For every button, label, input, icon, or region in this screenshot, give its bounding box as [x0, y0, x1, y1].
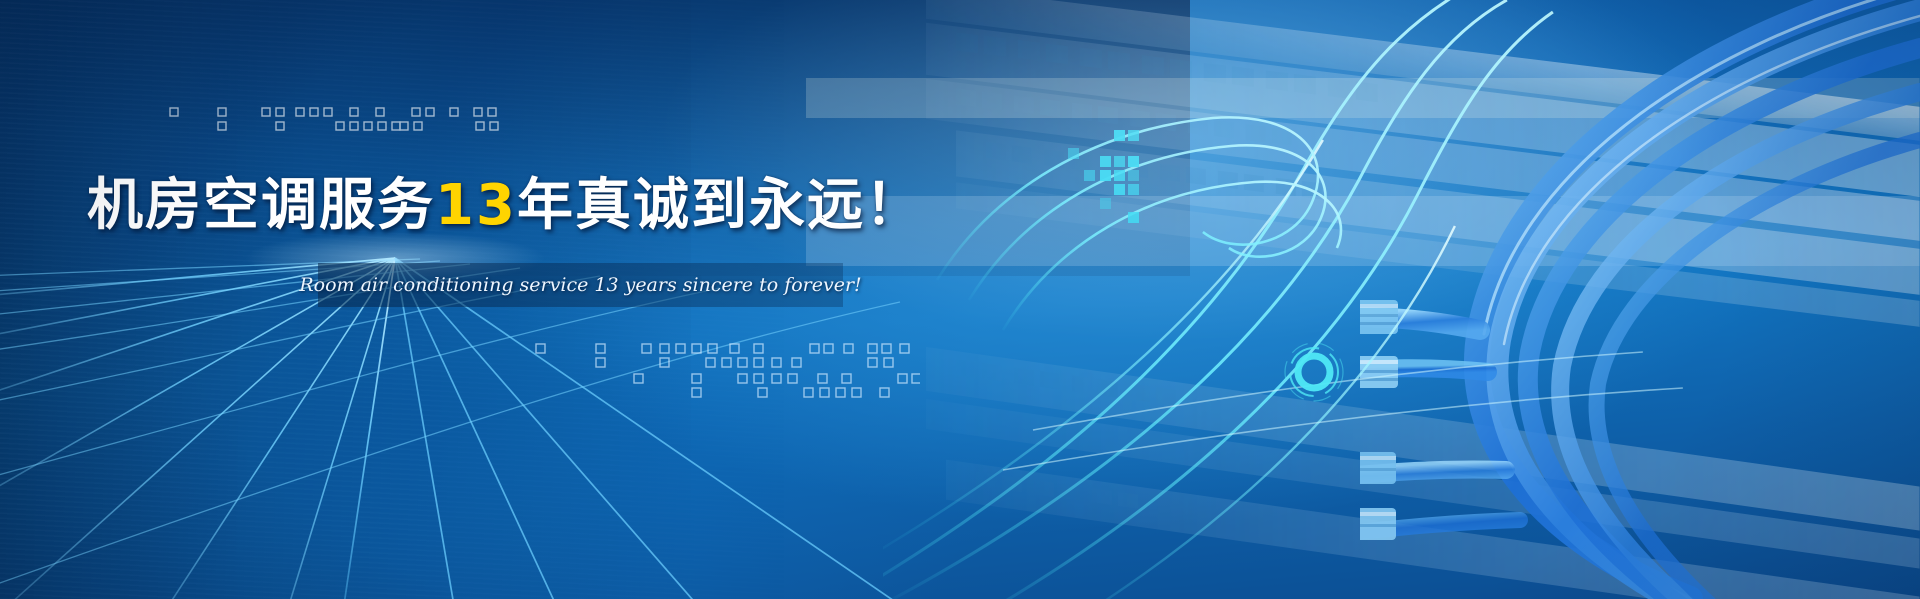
hud-ring-icon: [1280, 338, 1348, 406]
banner-text-block: 机房空调服务13年真诚到永远！ Room air conditioning se…: [0, 160, 1010, 241]
headline-part2: 年真诚到永远！: [517, 173, 923, 238]
page-title: 机房空调服务13年真诚到永远！: [0, 160, 1010, 241]
banner-subtitle: Room air conditioning service 13 years s…: [318, 263, 843, 307]
headline-part1: 机房空调服务: [87, 173, 435, 238]
ethernet-cable-bundle: [1360, 0, 1920, 599]
hero-banner: 机房空调服务13年真诚到永远！ Room air conditioning se…: [0, 0, 1920, 599]
headline-accent-number: 13: [435, 173, 517, 238]
pixel-mosaic: [1060, 130, 1190, 250]
